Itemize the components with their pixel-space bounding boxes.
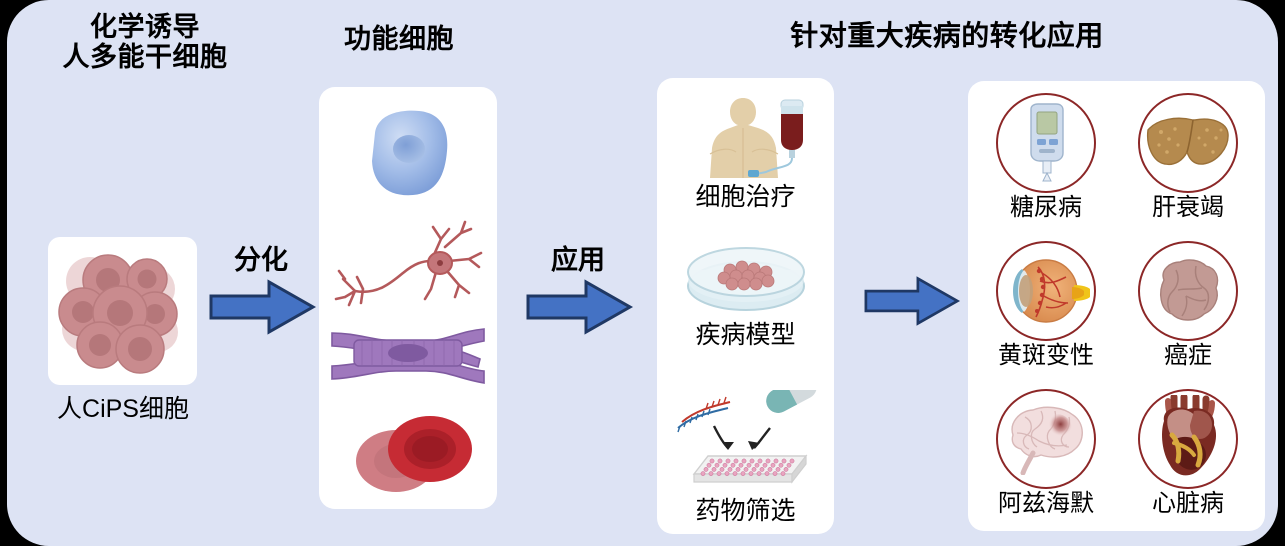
glucometer-icon: [1015, 103, 1077, 183]
disease-label: 阿兹海默: [978, 492, 1114, 516]
heading-translational-applications: 针对重大疾病的转化应用: [647, 20, 1247, 51]
functional-cell-item: [319, 405, 497, 500]
iv-infusion-patient-icon: [686, 94, 806, 180]
right-arrow-icon: [207, 278, 319, 336]
disease-label: 糖尿病: [978, 196, 1114, 220]
functional-cells-card: [319, 87, 497, 509]
disease-item: 癌症: [1120, 241, 1256, 368]
heading-source-line1: 化学诱导: [25, 12, 265, 42]
disease-label: 黄斑变性: [978, 344, 1114, 368]
disease-icon-frame: [1138, 389, 1238, 489]
disease-label: 肝衰竭: [1120, 196, 1256, 220]
heading-source: 化学诱导 人多能干细胞: [25, 12, 265, 72]
disease-icon-frame: [996, 93, 1096, 193]
application-item: 疾病模型: [657, 240, 834, 348]
diseases-card: 糖尿病 肝衰竭: [968, 81, 1265, 531]
arrow-differentiation-label: 分化: [205, 238, 317, 277]
eye-icon: [1002, 255, 1090, 327]
applications-card: 细胞治疗 疾病模型: [657, 78, 834, 534]
arrow-differentiation: 分化: [205, 238, 317, 338]
source-cell-card: [48, 237, 197, 385]
disease-item: 糖尿病: [978, 93, 1114, 220]
liver-icon: [1145, 112, 1231, 174]
cardiomyocyte-cell-icon: [328, 319, 488, 393]
brain-icon: [1003, 403, 1089, 475]
disease-label: 癌症: [1120, 344, 1256, 368]
functional-cell-item: [319, 105, 497, 210]
neuron-cell-icon: [333, 217, 483, 317]
disease-item: 心脏病: [1120, 389, 1256, 516]
disease-icon-frame: [1138, 93, 1238, 193]
disease-icon-frame: [996, 389, 1096, 489]
arrow-application-label: 应用: [522, 238, 634, 277]
arrow-to-diseases: [860, 275, 965, 327]
disease-label: 心脏病: [1120, 492, 1256, 516]
heading-functional-cells: 功能细胞: [299, 24, 499, 54]
disease-icon-frame: [1138, 241, 1238, 341]
application-label: 药物筛选: [657, 499, 834, 524]
stem-cell-colony-icon: [48, 237, 197, 385]
petri-dish-icon: [680, 240, 812, 318]
heart-icon: [1150, 395, 1226, 483]
functional-cell-item: [319, 319, 497, 398]
red-blood-cell-icon: [338, 405, 478, 495]
heading-source-line2: 人多能干细胞: [25, 42, 265, 72]
source-cell-caption: 人CiPS细胞: [7, 389, 239, 425]
functional-cell-item: [319, 217, 497, 322]
right-arrow-icon: [524, 278, 636, 336]
figure-canvas: 化学诱导 人多能干细胞 功能细胞 针对重大疾病的转化应用: [7, 0, 1278, 546]
disease-icon-frame: [996, 241, 1096, 341]
islet-beta-cell-icon: [353, 105, 463, 205]
disease-item: 黄斑变性: [978, 241, 1114, 368]
tumor-icon: [1152, 256, 1224, 326]
drug-screening-plate-icon: [666, 390, 826, 494]
application-label: 细胞治疗: [657, 185, 834, 210]
application-label: 疾病模型: [657, 323, 834, 348]
application-item: 细胞治疗: [657, 94, 834, 210]
application-item: 药物筛选: [657, 390, 834, 524]
right-arrow-icon: [860, 275, 965, 327]
disease-item: 阿兹海默: [978, 389, 1114, 516]
arrow-application: 应用: [522, 238, 634, 338]
disease-item: 肝衰竭: [1120, 93, 1256, 220]
